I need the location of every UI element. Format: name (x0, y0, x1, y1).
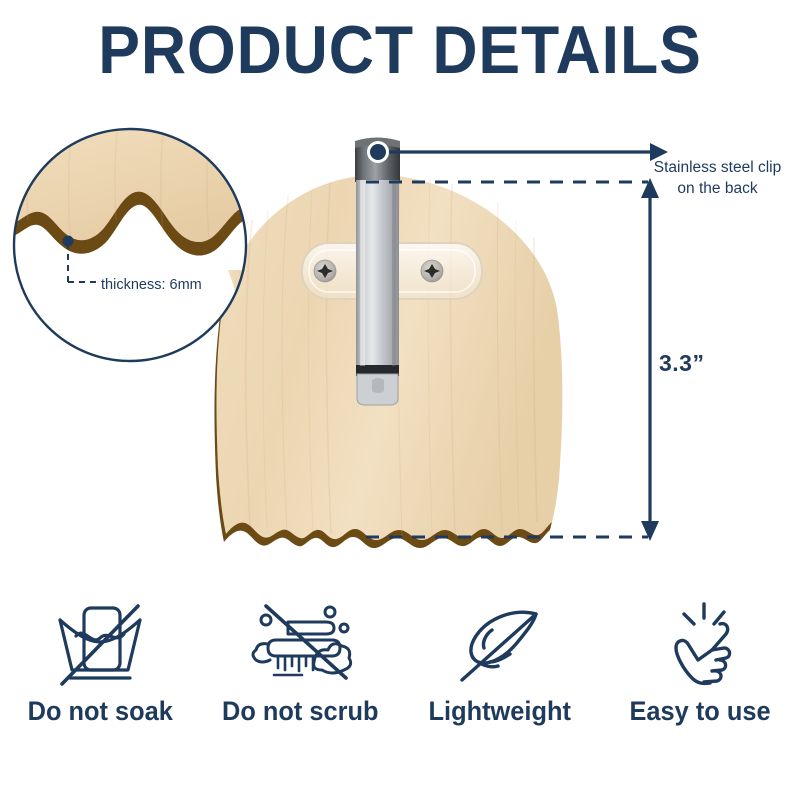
feature-do-not-soak: Do not soak (5, 600, 195, 727)
feature-easy-to-use: Easy to use (605, 600, 795, 727)
height-annotation: 3.3” (659, 350, 704, 377)
clip-annotation: Stainless steel clip on the back (640, 158, 795, 200)
feature-label-lightweight: Lightweight (429, 696, 571, 727)
feature-label-do-not-scrub: Do not scrub (222, 696, 379, 727)
screw-right (421, 260, 443, 282)
feature-label-do-not-soak: Do not soak (27, 696, 172, 727)
screw-left (314, 260, 336, 282)
feather-icon (448, 600, 552, 690)
clip-annotation-line2: on the back (640, 179, 795, 200)
feature-do-not-scrub: Do not scrub (205, 600, 395, 727)
stainless-steel-clip (355, 138, 400, 406)
thickness-annotation: thickness: 6mm (101, 277, 202, 293)
product-details-infographic: PRODUCT DETAILS (0, 0, 800, 800)
feature-label-easy-to-use: Easy to use (629, 696, 770, 727)
feature-lightweight: Lightweight (405, 600, 595, 727)
callout-dot (370, 144, 386, 160)
no-soak-icon (48, 600, 152, 690)
tap-hand-icon (650, 600, 750, 690)
clip-annotation-line1: Stainless steel clip (640, 158, 795, 179)
clip-callout-arrow (367, 141, 668, 163)
height-dimension-arrow (641, 178, 659, 541)
no-scrub-icon (244, 600, 356, 690)
feature-row: Do not soak (0, 600, 800, 760)
page-title: PRODUCT DETAILS (32, 16, 768, 84)
